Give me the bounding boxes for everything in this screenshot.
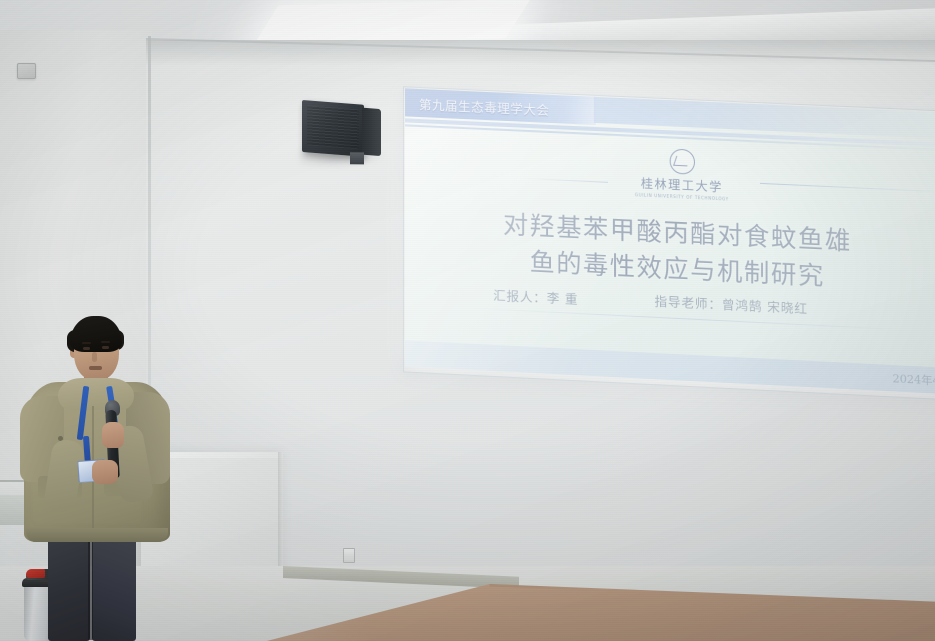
- leg-separation-shadow: [88, 540, 93, 640]
- wall-top-shadow: [146, 40, 935, 66]
- university-logo: 桂林理工大学 GUILIN UNIVERSITY OF TECHNOLOGY: [606, 146, 758, 201]
- eye-left: [83, 347, 90, 350]
- ceiling-light-diffuser: [253, 0, 530, 45]
- university-seal-icon: [669, 148, 694, 174]
- presenter-name: 汇报人：李 重: [493, 285, 578, 308]
- thermos-red-button: [26, 569, 45, 578]
- wall-speaker-icon: [302, 100, 380, 159]
- wall-socket-icon: [343, 548, 355, 563]
- speaker-side-panel: [362, 108, 381, 156]
- smoke-detector-icon: [17, 63, 36, 79]
- projection-screen: 第九届生态毒理学大会 桂林理工大学 GUILIN UNIVERSITY OF T…: [397, 84, 935, 402]
- eye-right: [102, 346, 109, 349]
- eyebrow-right: [101, 341, 110, 343]
- leg-right: [92, 534, 136, 641]
- speaker-mount-bracket: [350, 152, 364, 164]
- ceiling-light-panel-icon: [253, 0, 530, 45]
- slide-date: 2024年4: [893, 370, 935, 389]
- mouth: [89, 366, 102, 370]
- hand-upper: [102, 422, 124, 448]
- jacket-hem: [26, 528, 168, 542]
- speaker-front-face: [302, 100, 364, 157]
- conference-presentation-photo: 第九届生态毒理学大会 桂林理工大学 GUILIN UNIVERSITY OF T…: [0, 0, 935, 641]
- logo-rule-left: [525, 178, 608, 183]
- eyebrow-left: [82, 342, 91, 344]
- nose: [92, 352, 97, 362]
- hand-lower: [92, 460, 118, 484]
- speaker-grille: [307, 105, 359, 149]
- leg-left: [48, 536, 90, 641]
- logo-rule-right: [760, 183, 935, 193]
- hair: [70, 316, 122, 352]
- jacket-hood: [58, 378, 134, 410]
- advisor-names: 指导老师：曾鸿鹄 宋晓红: [654, 291, 807, 318]
- presentation-slide: 第九届生态毒理学大会 桂林理工大学 GUILIN UNIVERSITY OF T…: [405, 88, 935, 394]
